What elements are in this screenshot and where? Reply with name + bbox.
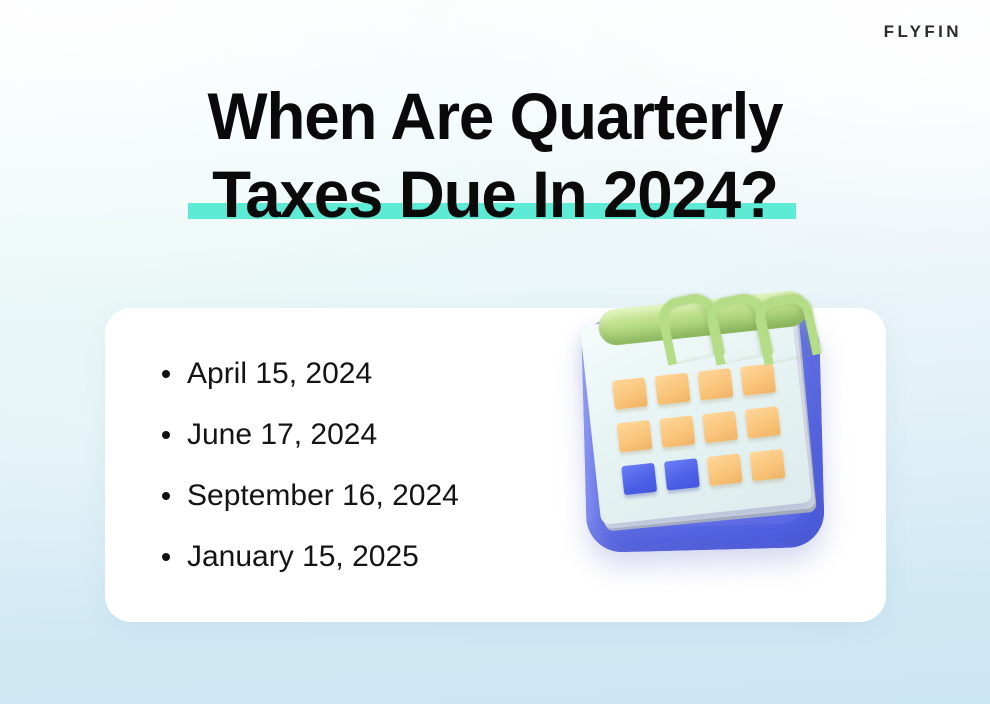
calendar-day-cell — [749, 449, 785, 481]
calendar-day-cell — [655, 373, 691, 405]
bullet-icon — [162, 553, 170, 561]
page-title: When Are Quarterly Taxes Due In 2024? — [0, 78, 990, 232]
page-title-line-2: Taxes Due In 2024? — [17, 156, 972, 232]
calendar-day-cell — [745, 406, 781, 438]
list-item: April 15, 2024 — [162, 356, 459, 417]
calendar-day-cell — [617, 420, 653, 452]
calendar-binder-bar — [597, 289, 810, 347]
calendar-day-cell — [659, 415, 695, 447]
calendar-day-cell — [697, 368, 733, 400]
list-item: September 16, 2024 — [162, 478, 459, 539]
list-item-label: April 15, 2024 — [187, 357, 372, 390]
calendar-day-cell-highlight — [664, 458, 700, 490]
calendar-day-cell — [740, 363, 776, 395]
list-item-label: June 17, 2024 — [187, 418, 377, 451]
flyfin-logo: FLYFIN — [884, 22, 962, 42]
list-item: January 15, 2025 — [162, 539, 459, 600]
calendar-day-cell — [612, 377, 648, 409]
calendar-day-cell-highlight — [621, 463, 657, 495]
bullet-icon — [162, 492, 170, 500]
calendar-day-cell — [702, 411, 738, 443]
due-date-list: April 15, 2024 June 17, 2024 September 1… — [162, 356, 459, 600]
page-title-line-1: When Are Quarterly — [17, 78, 972, 154]
calendar-binder-ring — [751, 290, 821, 366]
bullet-icon — [162, 431, 170, 439]
calendar-grid — [612, 363, 786, 497]
calendar-icon — [572, 276, 834, 572]
list-item-label: January 15, 2025 — [187, 540, 419, 573]
list-item-label: September 16, 2024 — [187, 479, 459, 512]
list-item: June 17, 2024 — [162, 417, 459, 478]
infographic-slide: FLYFIN When Are Quarterly Taxes Due In 2… — [0, 0, 990, 704]
calendar-day-cell — [707, 454, 743, 486]
bullet-icon — [162, 370, 170, 378]
